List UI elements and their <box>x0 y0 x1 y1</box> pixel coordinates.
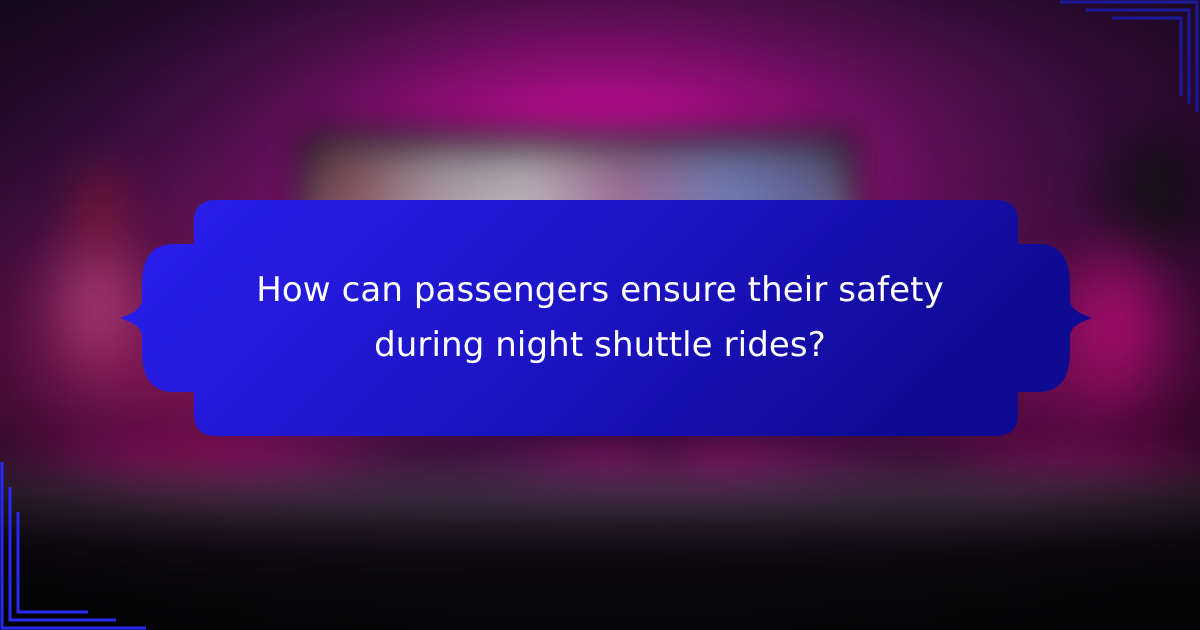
question-card-canvas: How can passengers ensure their safety d… <box>0 0 1200 630</box>
question-line-2: during night shuttle rides? <box>374 318 826 373</box>
question-line-1: How can passengers ensure their safety <box>256 263 944 318</box>
question-text-block: How can passengers ensure their safety d… <box>104 196 1096 440</box>
